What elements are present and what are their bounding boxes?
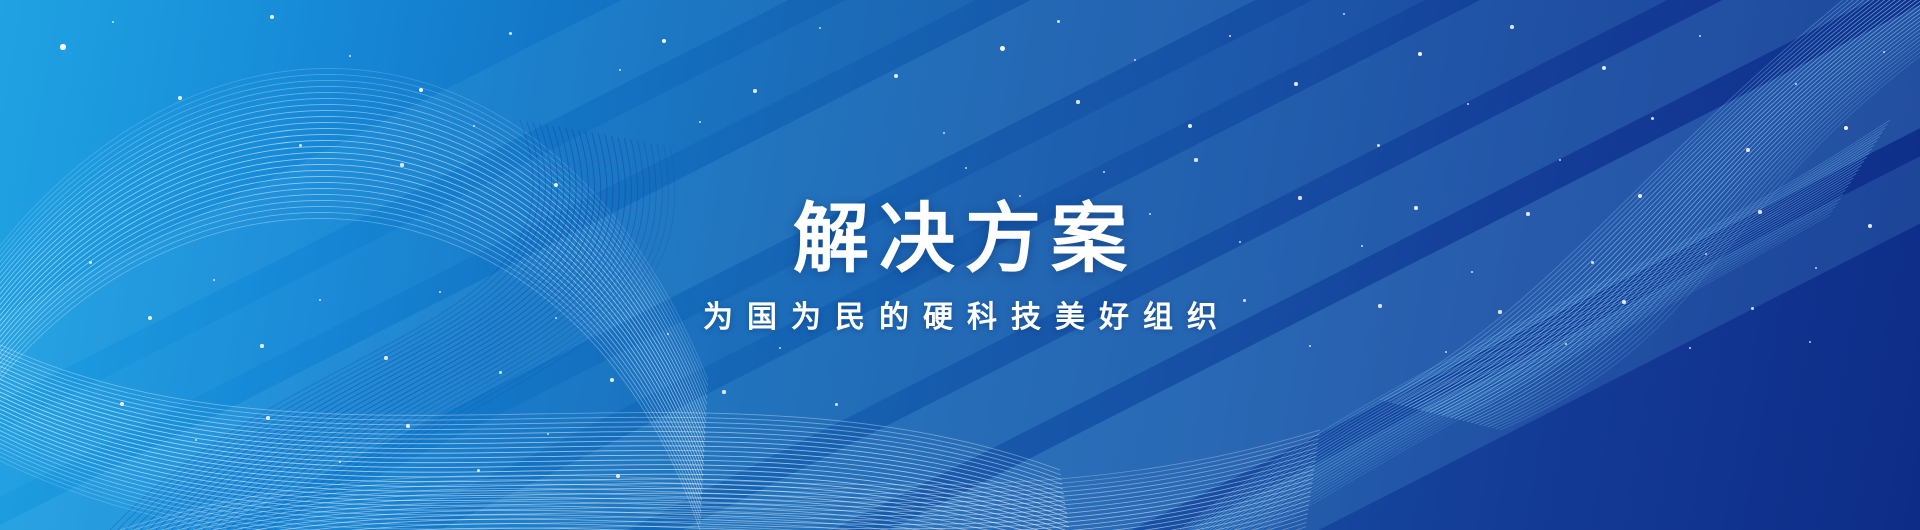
star-dot-icon	[1076, 100, 1079, 103]
star-dot-icon	[819, 27, 821, 29]
star-dot-icon	[178, 96, 182, 100]
star-dot-icon	[266, 416, 269, 419]
star-dot-icon	[120, 402, 124, 406]
star-dot-icon	[835, 403, 838, 406]
page-subtitle: 为国为民的硬科技美好组织	[0, 298, 1920, 338]
star-dot-icon	[1000, 46, 1005, 51]
star-dot-icon	[1194, 158, 1197, 161]
star-dot-icon	[1689, 347, 1692, 350]
solutions-banner: 解决方案 为国为民的硬科技美好组织	[0, 0, 1920, 530]
star-dot-icon	[509, 32, 512, 35]
star-dot-icon	[662, 39, 666, 43]
star-dot-icon	[270, 15, 274, 19]
star-dot-icon	[1445, 351, 1447, 353]
page-title: 解决方案	[0, 196, 1920, 282]
star-dot-icon	[384, 356, 388, 360]
star-dot-icon	[260, 344, 263, 347]
star-dot-icon	[1467, 103, 1470, 106]
star-dot-icon	[1057, 20, 1060, 23]
star-dot-icon	[1103, 171, 1106, 174]
star-dot-icon	[610, 378, 614, 382]
star-dot-icon	[1883, 51, 1886, 54]
star-dot-icon	[1229, 35, 1232, 38]
star-dot-icon	[1343, 13, 1346, 16]
star-dot-icon	[60, 44, 65, 49]
star-dot-icon	[1746, 148, 1750, 152]
star-dot-icon	[1309, 345, 1312, 348]
star-dot-icon	[1377, 144, 1380, 147]
star-dot-icon	[616, 474, 619, 477]
star-dot-icon	[1602, 66, 1606, 70]
star-dot-icon	[419, 88, 424, 93]
star-dot-icon	[943, 132, 946, 135]
star-dot-icon	[1565, 343, 1568, 346]
star-dot-icon	[1844, 126, 1848, 130]
star-dot-icon	[299, 144, 302, 147]
star-dot-icon	[112, 21, 115, 24]
star-dot-icon	[499, 371, 502, 374]
star-dot-icon	[195, 439, 198, 442]
star-dot-icon	[339, 461, 342, 464]
star-dot-icon	[722, 390, 725, 393]
star-dot-icon	[1699, 35, 1702, 38]
star-dot-icon	[1559, 159, 1561, 161]
star-dot-icon	[1651, 117, 1654, 120]
star-dot-icon	[1294, 82, 1298, 86]
star-dot-icon	[1134, 59, 1136, 61]
star-dot-icon	[753, 89, 756, 92]
star-dot-icon	[1809, 341, 1811, 343]
star-dot-icon	[1510, 25, 1513, 28]
star-dot-icon	[699, 121, 702, 124]
star-dot-icon	[400, 163, 403, 166]
star-dot-icon	[406, 424, 410, 428]
star-dot-icon	[619, 69, 622, 72]
star-dot-icon	[473, 125, 475, 127]
star-dot-icon	[554, 183, 558, 187]
star-dot-icon	[965, 167, 967, 169]
star-dot-icon	[1418, 52, 1423, 57]
banner-text-block: 解决方案 为国为民的硬科技美好组织	[0, 196, 1920, 338]
star-dot-icon	[349, 55, 352, 58]
star-dot-icon	[1188, 124, 1192, 128]
star-dot-icon	[1795, 83, 1798, 86]
star-dot-icon	[779, 347, 781, 349]
star-dot-icon	[477, 469, 480, 472]
star-dot-icon	[894, 74, 898, 78]
star-dot-icon	[547, 433, 549, 435]
